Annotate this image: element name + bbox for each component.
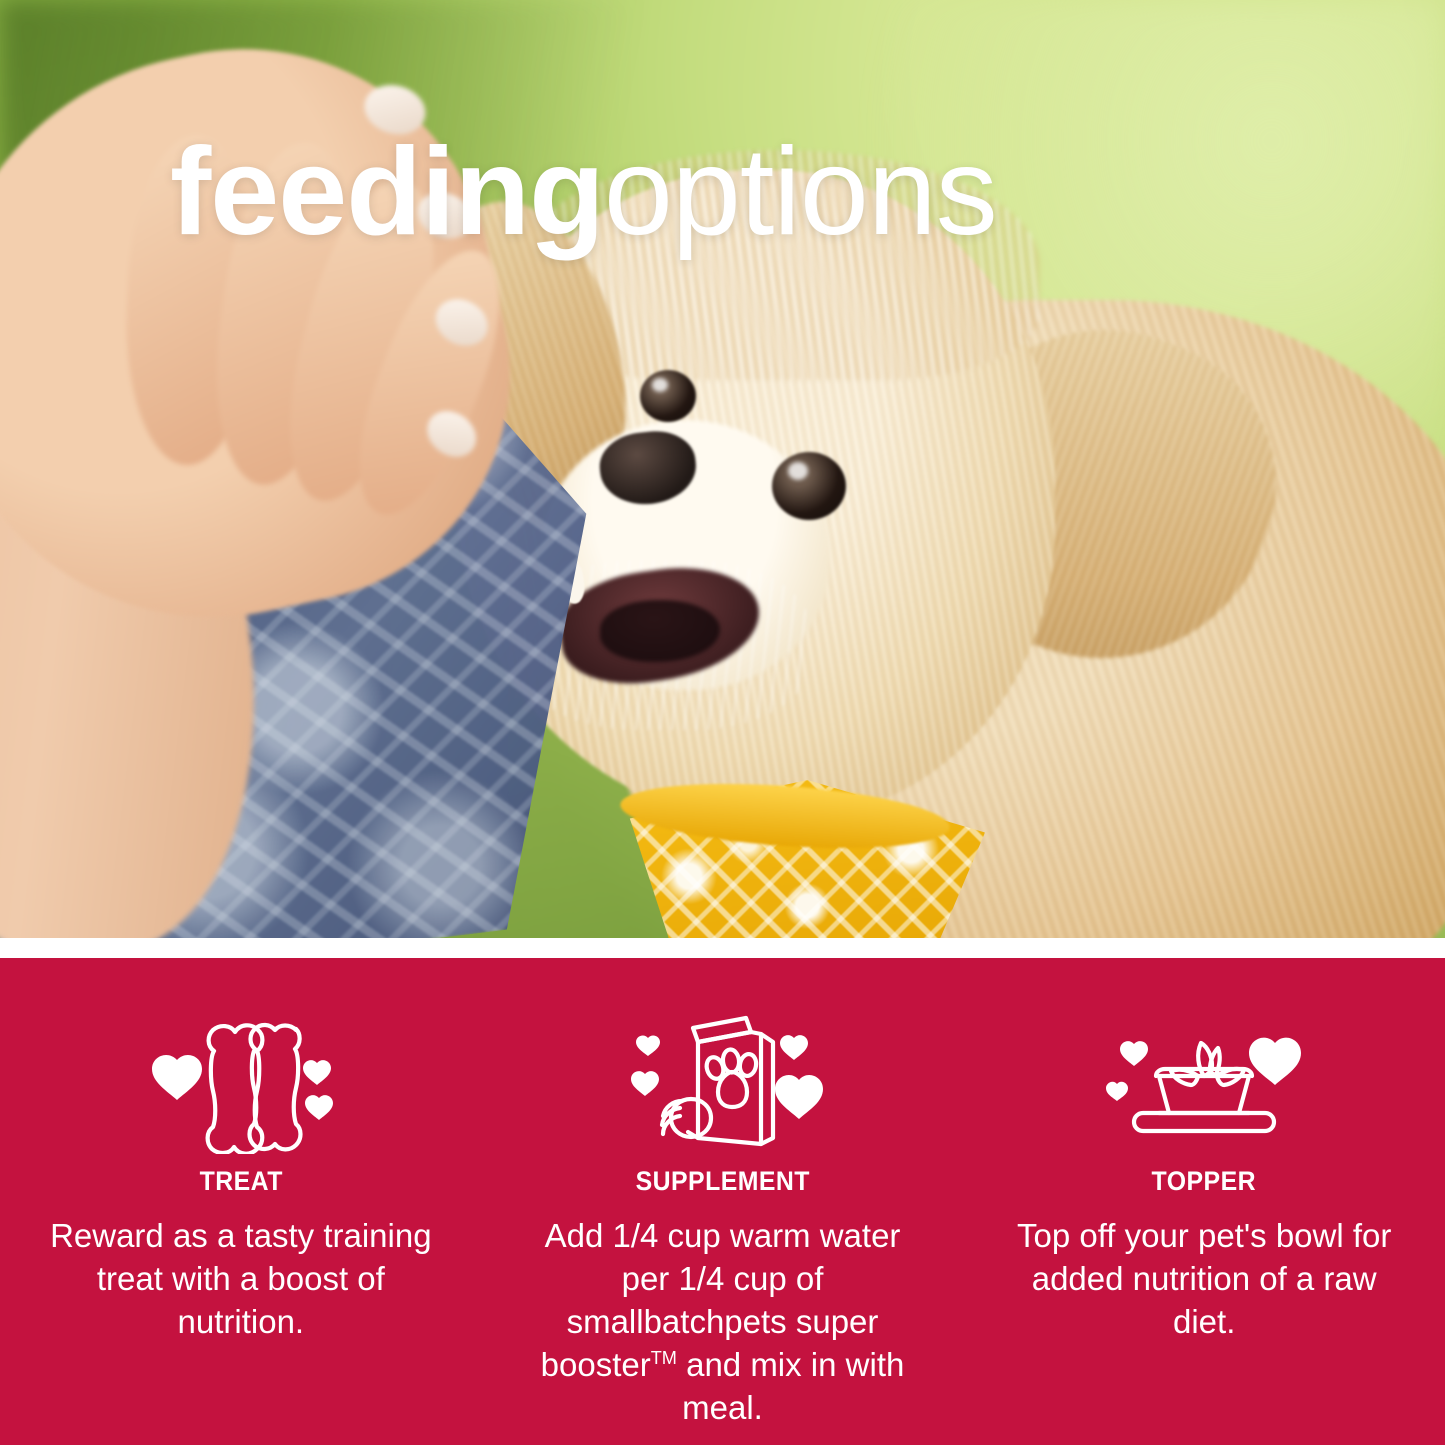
supplement-desc-post: and mix in with meal. xyxy=(677,1346,904,1426)
dog-bone-hearts-icon xyxy=(141,1012,341,1154)
option-title-supplement: SUPPLEMENT xyxy=(635,1166,809,1197)
bowl-base xyxy=(1134,1113,1274,1131)
headline-bold-word: feeding xyxy=(170,123,604,261)
heart-small-left-top xyxy=(1120,1041,1148,1066)
heart-small-right-bottom xyxy=(305,1095,333,1120)
option-title-treat: TREAT xyxy=(199,1166,282,1197)
option-column-topper: TOPPER Top off your pet's bowl for added… xyxy=(963,958,1445,1445)
option-column-treat: TREAT Reward as a tasty training treat w… xyxy=(0,958,482,1445)
headline-light-word: options xyxy=(604,123,997,261)
food-bowl-hearts-icon xyxy=(1099,1013,1309,1153)
hero-photo: feedingoptions xyxy=(0,0,1445,938)
feeding-options-panel: TREAT Reward as a tasty training treat w… xyxy=(0,958,1445,1445)
heart-small-left-top xyxy=(636,1035,660,1056)
heart-large-right xyxy=(775,1075,823,1119)
paw-toe-3 xyxy=(738,1053,758,1077)
feeding-options-infographic: feedingoptions TREAT Reward as a tasty t… xyxy=(0,0,1445,1445)
option-title-topper: TOPPER xyxy=(1152,1166,1256,1197)
trademark-symbol: TM xyxy=(651,1348,677,1368)
paw-toe-2 xyxy=(721,1049,739,1074)
heart-large-right xyxy=(1249,1038,1301,1085)
option-column-supplement: SUPPLEMENT Add 1/4 cup warm water per 1/… xyxy=(482,958,964,1445)
page-title: feedingoptions xyxy=(170,130,997,254)
treat-icon-wrap xyxy=(141,1008,341,1158)
heart-small-left-bottom xyxy=(631,1071,659,1096)
topper-icon-wrap xyxy=(1099,1008,1309,1158)
option-description-treat: Reward as a tasty training treat with a … xyxy=(41,1215,441,1344)
heart-small-right-top xyxy=(303,1060,331,1085)
heart-large-left xyxy=(152,1055,202,1100)
dog-eye-glint-right xyxy=(788,462,808,480)
heart-small-left-bottom xyxy=(1106,1082,1128,1101)
heart-small-right xyxy=(780,1035,808,1060)
food-bag-paw-hearts-icon xyxy=(618,1008,828,1158)
dog-eye-right xyxy=(772,452,846,520)
paw-pad xyxy=(718,1072,747,1107)
supplement-icon-wrap xyxy=(618,1008,828,1158)
dog-eye-glint-left xyxy=(652,378,668,392)
option-description-supplement: Add 1/4 cup warm water per 1/4 cup of sm… xyxy=(523,1215,923,1429)
dog-eye-left xyxy=(640,370,696,422)
option-description-topper: Top off your pet's bowl for added nutrit… xyxy=(1004,1215,1404,1344)
